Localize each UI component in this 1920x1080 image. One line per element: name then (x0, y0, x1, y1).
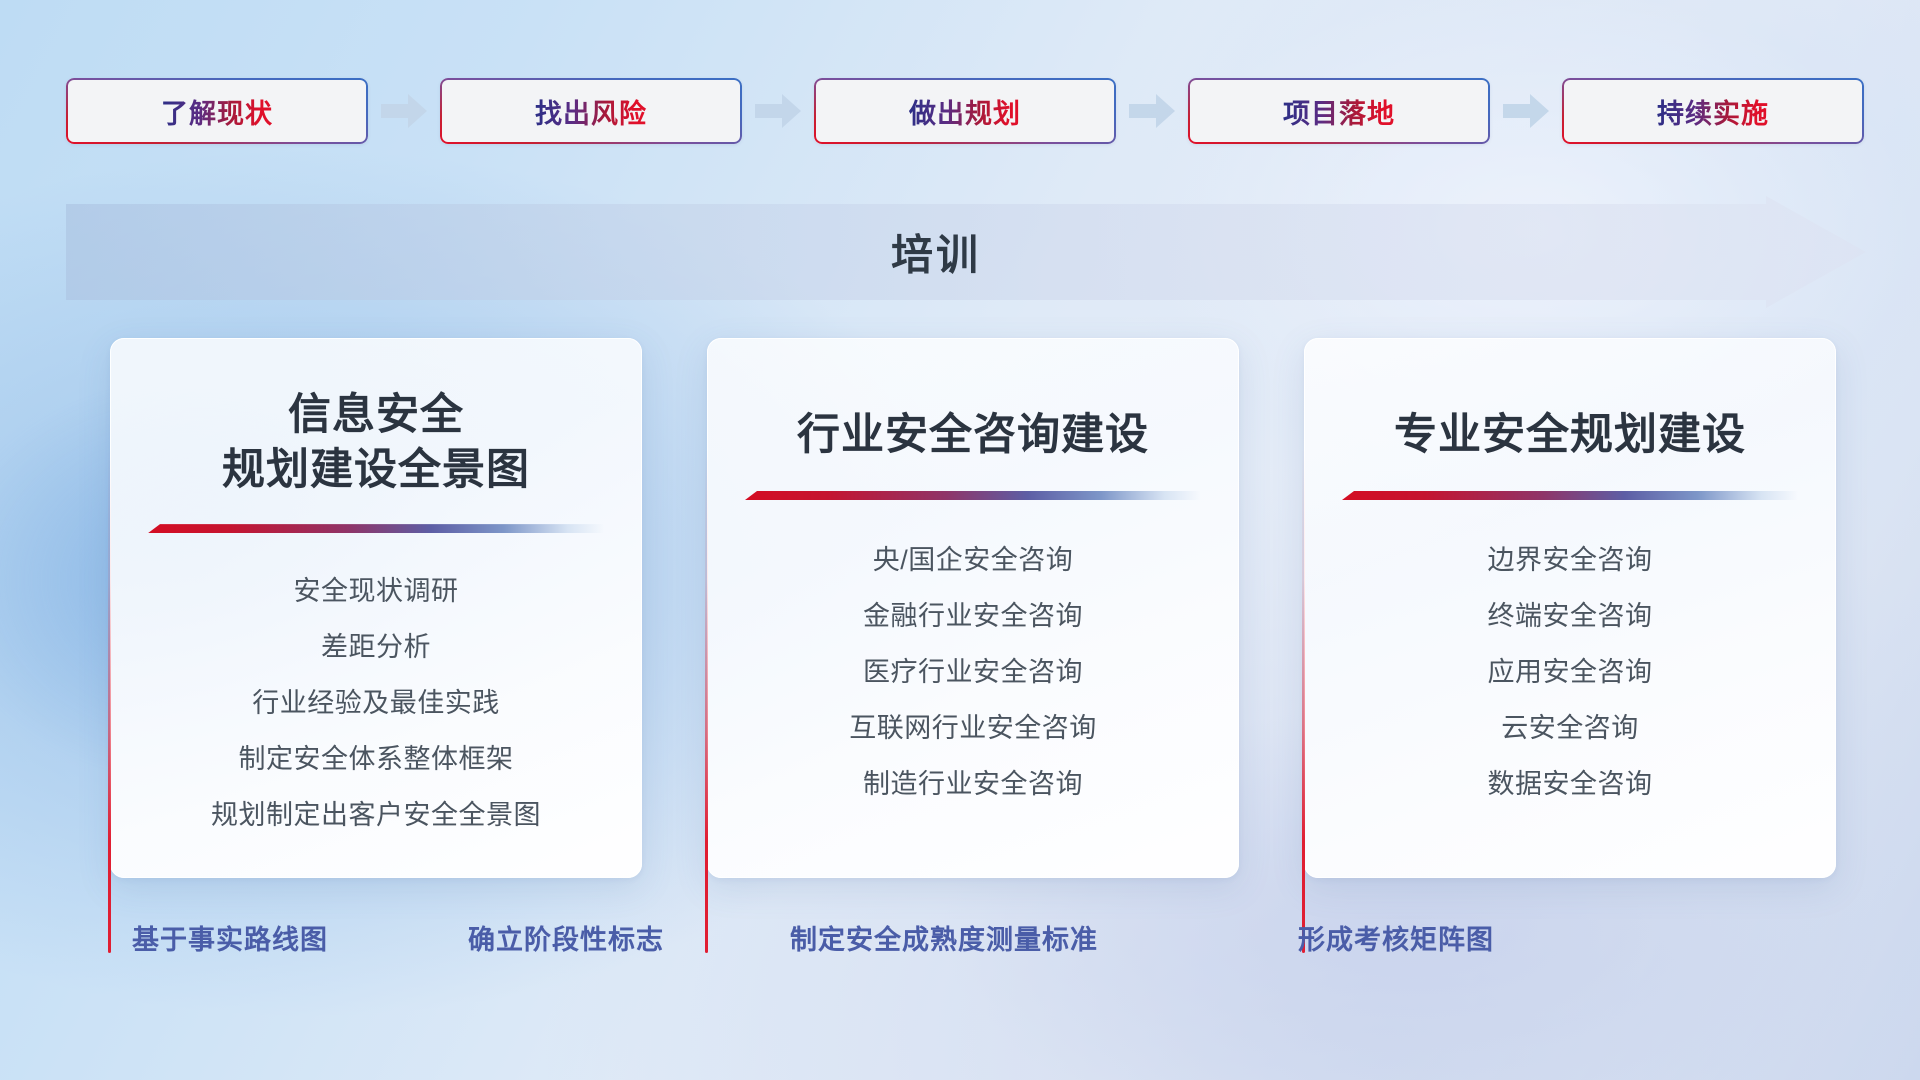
stage-label-2: 找出风险 (535, 92, 647, 131)
banner-title: 培训 (66, 222, 1866, 283)
list-item: 行业经验及最佳实践 (144, 675, 608, 731)
stage-box-5[interactable]: 持续实施 (1562, 78, 1864, 144)
card-divider (148, 524, 604, 533)
list-item: 金融行业安全咨询 (741, 588, 1205, 644)
stage-connector-4 (1490, 94, 1562, 128)
right-arrow-icon (755, 94, 801, 128)
right-arrow-icon (381, 94, 427, 128)
stage-box-3[interactable]: 做出规划 (814, 78, 1116, 144)
list-item: 央/国企安全咨询 (741, 532, 1205, 588)
list-item: 数据安全咨询 (1338, 756, 1802, 812)
stage-label-5: 持续实施 (1657, 92, 1769, 131)
card-row: 信息安全 规划建设全景图 安全现状调研 差距分析 行业经验及最佳实践 制定安全体… (110, 338, 1870, 878)
stage-label-4: 项目落地 (1283, 92, 1395, 131)
card-item-list: 安全现状调研 差距分析 行业经验及最佳实践 制定安全体系整体框架 规划制定出客户… (144, 563, 608, 843)
card-item-list: 边界安全咨询 终端安全咨询 应用安全咨询 云安全咨询 数据安全咨询 (1338, 532, 1802, 812)
footer-caption-2: 确立阶段性标志 (468, 918, 664, 957)
right-arrow-icon (1129, 94, 1175, 128)
list-item: 终端安全咨询 (1338, 588, 1802, 644)
stage-box-2[interactable]: 找出风险 (440, 78, 742, 144)
stage-label-3: 做出规划 (909, 92, 1021, 131)
card-title: 专业安全规划建设 (1394, 408, 1746, 463)
process-stage-row: 了解现状 找出风险 做出规划 项目落地 持续实施 (66, 78, 1866, 144)
card-info-security-panorama[interactable]: 信息安全 规划建设全景图 安全现状调研 差距分析 行业经验及最佳实践 制定安全体… (110, 338, 642, 878)
list-item: 制造行业安全咨询 (741, 756, 1205, 812)
stage-label-1: 了解现状 (161, 92, 273, 131)
footer-caption-row: 基于事实路线图 确立阶段性标志 制定安全成熟度测量标准 形成考核矩阵图 (0, 918, 1920, 966)
list-item: 互联网行业安全咨询 (741, 700, 1205, 756)
list-item: 差距分析 (144, 619, 608, 675)
card-title: 行业安全咨询建设 (797, 408, 1149, 463)
card-professional-security-planning[interactable]: 专业安全规划建设 边界安全咨询 终端安全咨询 应用安全咨询 云安全咨询 数据安全… (1304, 338, 1836, 878)
right-arrow-icon (1503, 94, 1549, 128)
footer-caption-1: 基于事实路线图 (132, 918, 328, 957)
card-title: 信息安全 规划建设全景图 (222, 388, 530, 498)
list-item: 制定安全体系整体框架 (144, 731, 608, 787)
list-item: 医疗行业安全咨询 (741, 644, 1205, 700)
list-item: 规划制定出客户安全全景图 (144, 787, 608, 843)
stage-connector-3 (1116, 94, 1188, 128)
list-item: 云安全咨询 (1338, 700, 1802, 756)
footer-caption-3: 制定安全成熟度测量标准 (790, 918, 1098, 957)
card-divider (745, 491, 1201, 500)
list-item: 应用安全咨询 (1338, 644, 1802, 700)
list-item: 安全现状调研 (144, 563, 608, 619)
list-item: 边界安全咨询 (1338, 532, 1802, 588)
stage-box-1[interactable]: 了解现状 (66, 78, 368, 144)
footer-caption-4: 形成考核矩阵图 (1298, 918, 1494, 957)
stage-connector-2 (742, 94, 814, 128)
card-item-list: 央/国企安全咨询 金融行业安全咨询 医疗行业安全咨询 互联网行业安全咨询 制造行… (741, 532, 1205, 812)
stage-connector-1 (368, 94, 440, 128)
card-divider (1342, 491, 1798, 500)
card-industry-security-consulting[interactable]: 行业安全咨询建设 央/国企安全咨询 金融行业安全咨询 医疗行业安全咨询 互联网行… (707, 338, 1239, 878)
stage-box-4[interactable]: 项目落地 (1188, 78, 1490, 144)
training-banner: 培训 (66, 196, 1866, 308)
